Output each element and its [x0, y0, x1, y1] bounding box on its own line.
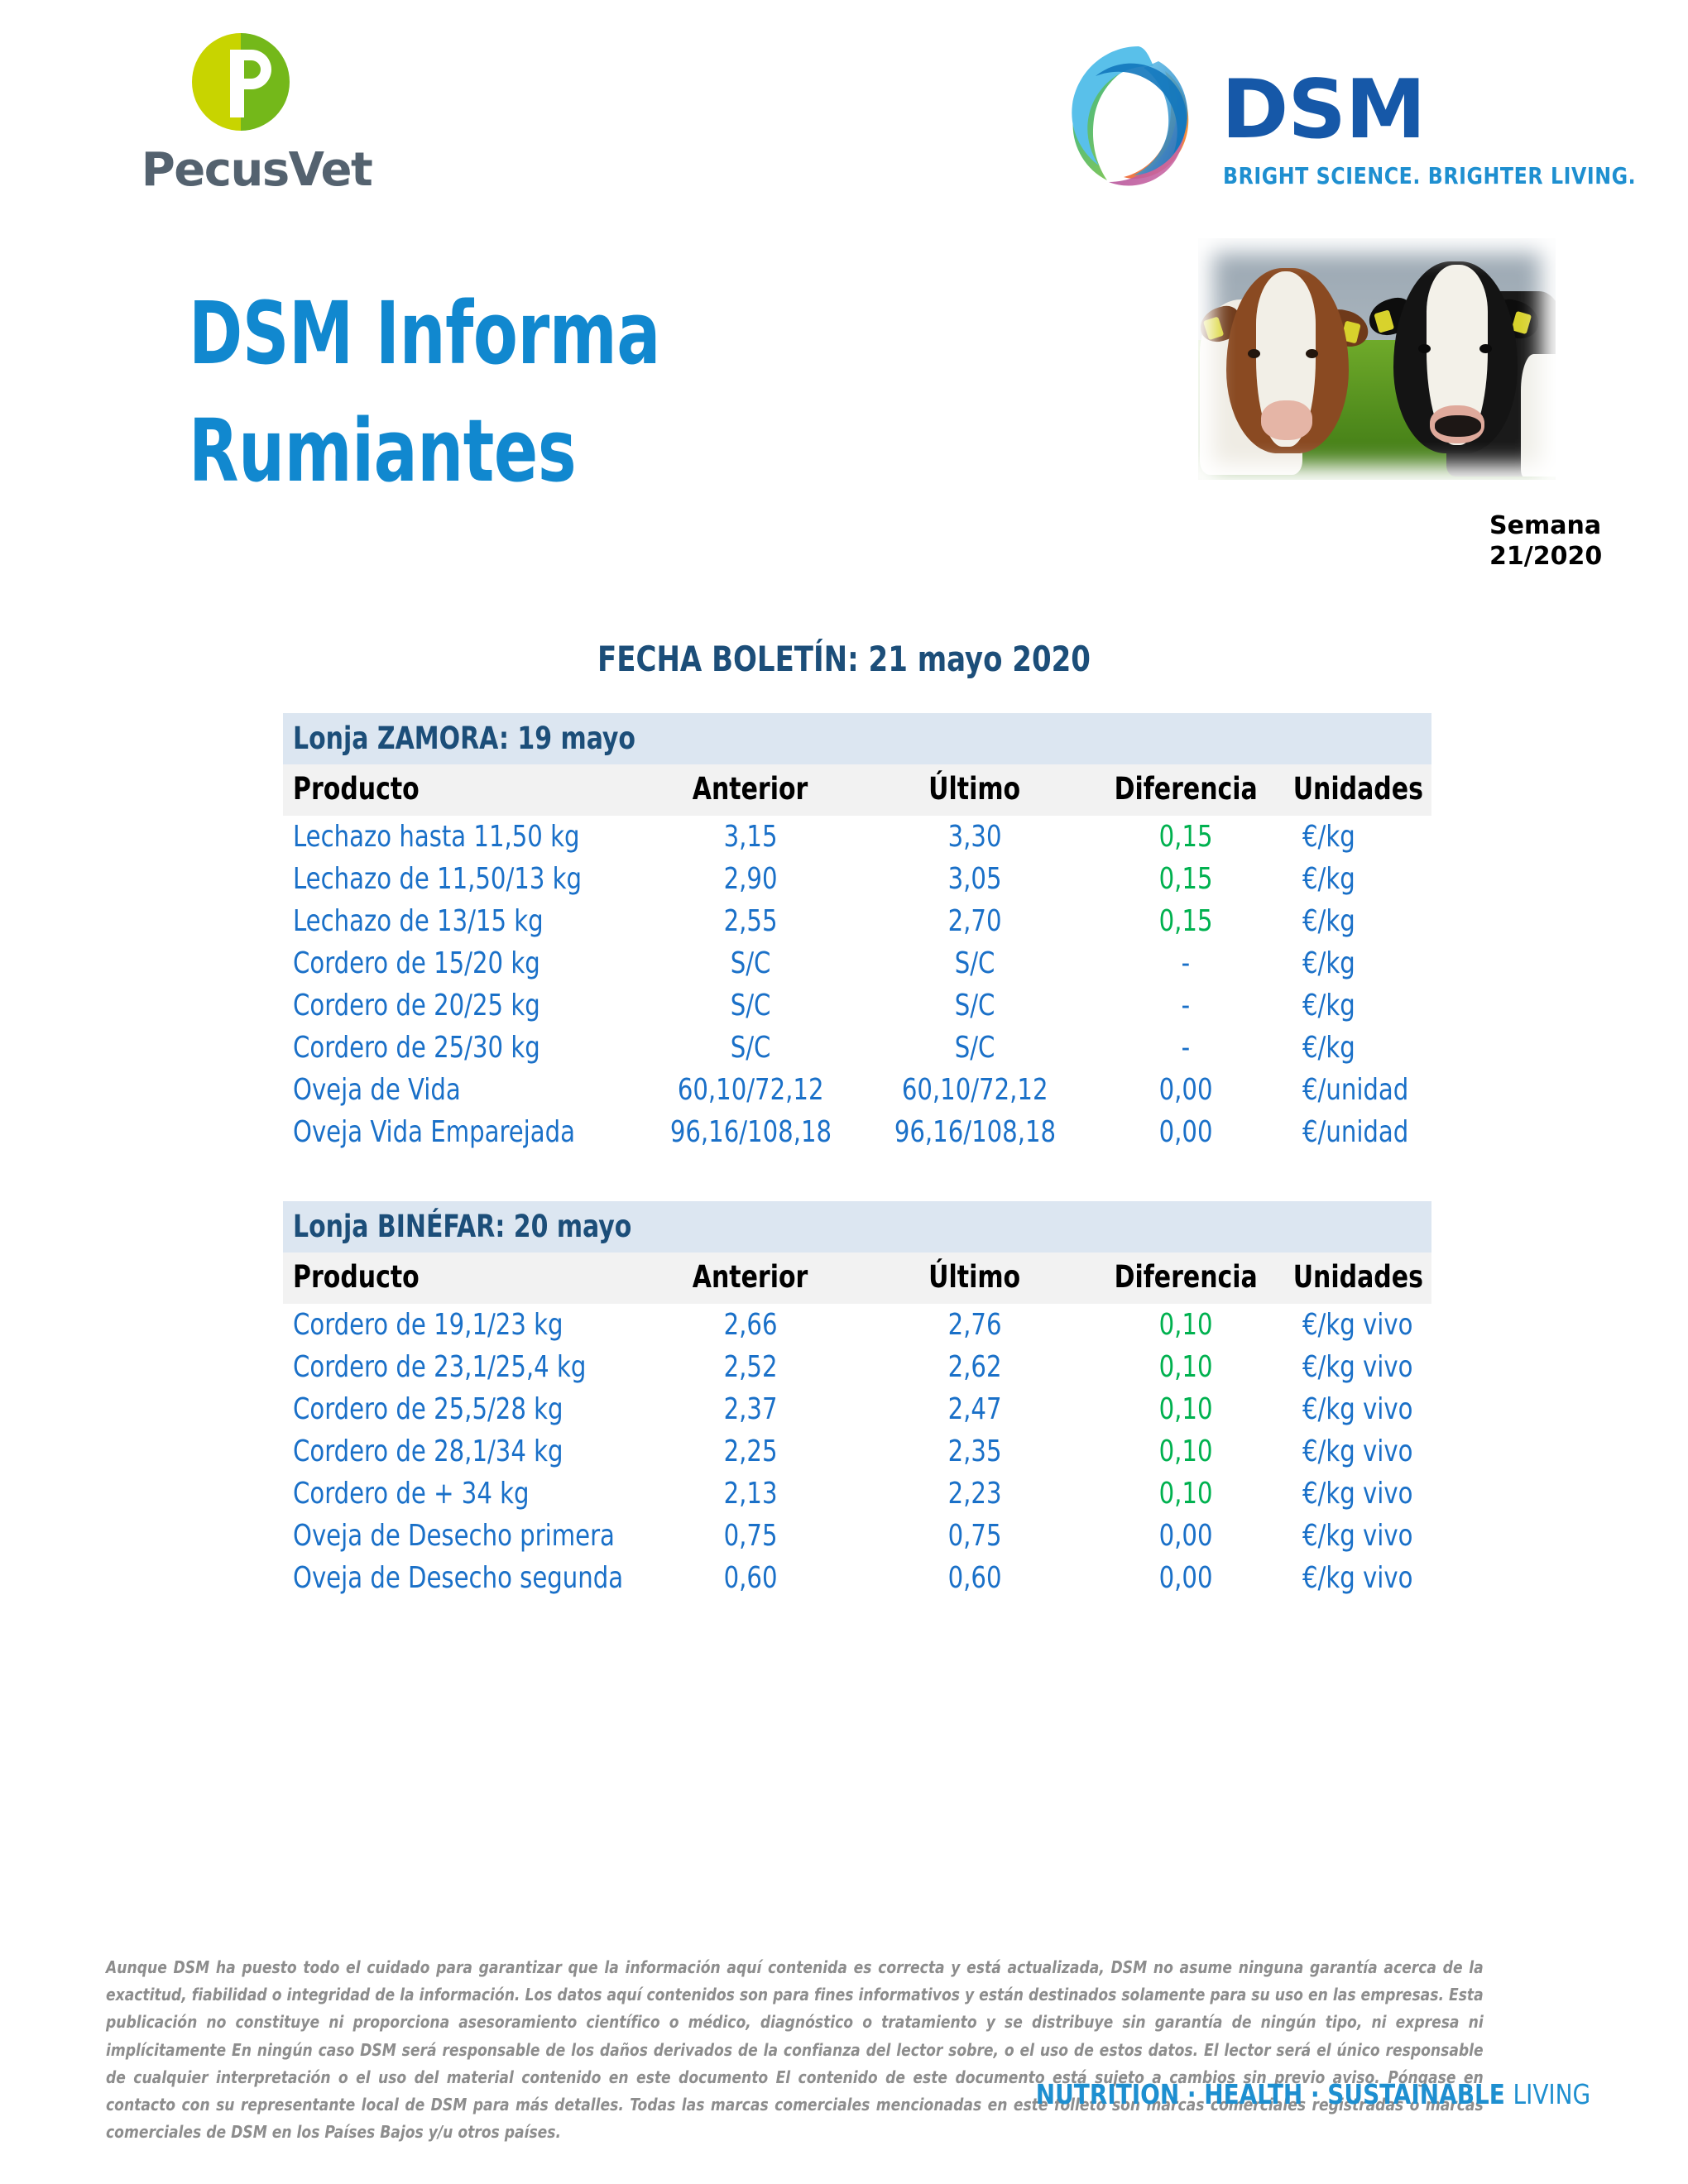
black-cow-eye-left [1418, 344, 1431, 353]
cell-diferencia: 0,15 [1087, 816, 1284, 858]
pecusvet-logo: PecusVet [124, 31, 389, 226]
column-header-ultimo: Último [862, 1252, 1087, 1304]
lonja-binefar-table: Lonja BINÉFAR: 20 mayo Producto Anterior… [283, 1201, 1431, 1599]
column-header-producto: Producto [283, 764, 639, 816]
cell-ultimo: 3,30 [862, 816, 1087, 858]
cell-diferencia: 0,15 [1087, 858, 1284, 900]
cell-ultimo: S/C [862, 942, 1087, 984]
brown-cow-muzzle [1261, 400, 1312, 440]
pecusvet-wordmark: PecusVet [124, 147, 389, 194]
black-cow-eye-right [1479, 344, 1492, 353]
legal-disclaimer: Aunque DSM ha puesto todo el cuidado par… [106, 1954, 1484, 2146]
document-header: PecusVet [0, 0, 1688, 596]
cell-unidades: €/kg [1284, 1027, 1431, 1069]
cell-anterior: 0,75 [639, 1515, 862, 1557]
section-title: Lonja BINÉFAR: 20 mayo [293, 1209, 631, 1244]
cell-anterior: 2,37 [639, 1388, 862, 1430]
section-header-zamora: Lonja ZAMORA: 19 mayo [283, 713, 1431, 764]
week-badge: Semana 21/2020 [1489, 511, 1602, 572]
column-header-producto: Producto [283, 1252, 639, 1304]
brown-cow-eye-left [1248, 349, 1260, 358]
dsm-swirl-icon [1057, 40, 1211, 194]
cell-diferencia: 0,10 [1087, 1346, 1284, 1388]
column-header-row: Producto Anterior Último Diferencia Unid… [283, 1252, 1431, 1304]
cell-ultimo: 0,60 [862, 1557, 1087, 1599]
cell-anterior: 2,90 [639, 858, 862, 900]
cell-anterior: S/C [639, 1027, 862, 1069]
page-subtitle: Rumiantes [189, 405, 576, 496]
cell-ultimo: S/C [862, 984, 1087, 1027]
cell-diferencia: 0,00 [1087, 1111, 1284, 1153]
tagline-light-part: LIVING [1513, 2078, 1590, 2110]
cell-producto: Cordero de 20/25 kg [283, 984, 639, 1027]
cell-ultimo: 2,70 [862, 900, 1087, 942]
table-row: Cordero de 20/25 kg S/C S/C - €/kg [283, 984, 1431, 1027]
cell-unidades: €/kg vivo [1284, 1557, 1431, 1599]
pecusvet-p-mark-icon [190, 31, 291, 132]
cell-ultimo: 60,10/72,12 [862, 1069, 1087, 1111]
cell-anterior: S/C [639, 984, 862, 1027]
table-row: Cordero de 25,5/28 kg 2,37 2,47 0,10 €/k… [283, 1388, 1431, 1430]
cell-unidades: €/kg vivo [1284, 1346, 1431, 1388]
cell-unidades: €/kg [1284, 858, 1431, 900]
cell-producto: Cordero de 23,1/25,4 kg [283, 1346, 639, 1388]
cell-ultimo: 2,47 [862, 1388, 1087, 1430]
cell-diferencia: 0,10 [1087, 1473, 1284, 1515]
table-row: Oveja Vida Emparejada 96,16/108,18 96,16… [283, 1111, 1431, 1153]
cell-producto: Lechazo de 11,50/13 kg [283, 858, 639, 900]
cell-unidades: €/kg vivo [1284, 1304, 1431, 1346]
table-row: Cordero de 28,1/34 kg 2,25 2,35 0,10 €/k… [283, 1430, 1431, 1473]
cell-unidades: €/kg vivo [1284, 1515, 1431, 1557]
cell-ultimo: 2,62 [862, 1346, 1087, 1388]
cows-photo [1198, 238, 1556, 480]
ear-tag-icon [1203, 316, 1224, 340]
black-cow-white-patch [1521, 354, 1556, 477]
cell-unidades: €/kg vivo [1284, 1388, 1431, 1430]
cell-producto: Cordero de + 34 kg [283, 1473, 639, 1515]
column-header-anterior: Anterior [639, 764, 862, 816]
cell-anterior: 2,13 [639, 1473, 862, 1515]
cell-unidades: €/kg [1284, 942, 1431, 984]
column-header-unidades: Unidades [1284, 764, 1431, 816]
cell-producto: Cordero de 19,1/23 kg [283, 1304, 639, 1346]
column-header-diferencia: Diferencia [1087, 764, 1284, 816]
cell-unidades: €/kg [1284, 900, 1431, 942]
dsm-footer-tagline: NUTRITION · HEALTH · SUSTAINABLE LIVING [1036, 2078, 1590, 2110]
cell-diferencia: 0,10 [1087, 1430, 1284, 1473]
cell-producto: Cordero de 25/30 kg [283, 1027, 639, 1069]
cell-anterior: 2,55 [639, 900, 862, 942]
cell-unidades: €/unidad [1284, 1111, 1431, 1153]
cell-anterior: 96,16/108,18 [639, 1111, 862, 1153]
cell-unidades: €/kg [1284, 816, 1431, 858]
cell-diferencia: 0,10 [1087, 1304, 1284, 1346]
cell-producto: Lechazo hasta 11,50 kg [283, 816, 639, 858]
cell-anterior: 2,25 [639, 1430, 862, 1473]
table-row: Oveja de Vida 60,10/72,12 60,10/72,12 0,… [283, 1069, 1431, 1111]
cell-anterior: 60,10/72,12 [639, 1069, 862, 1111]
cell-unidades: €/kg vivo [1284, 1473, 1431, 1515]
cell-producto: Oveja de Vida [283, 1069, 639, 1111]
table-row: Cordero de 19,1/23 kg 2,66 2,76 0,10 €/k… [283, 1304, 1431, 1346]
table-row: Cordero de 23,1/25,4 kg 2,52 2,62 0,10 €… [283, 1346, 1431, 1388]
week-value: 21/2020 [1489, 542, 1602, 572]
cell-ultimo: 0,75 [862, 1515, 1087, 1557]
cell-producto: Oveja de Desecho segunda [283, 1557, 639, 1599]
cell-producto: Cordero de 28,1/34 kg [283, 1430, 639, 1473]
cell-ultimo: 2,23 [862, 1473, 1087, 1515]
cell-ultimo: 2,76 [862, 1304, 1087, 1346]
column-header-ultimo: Último [862, 764, 1087, 816]
cell-diferencia: - [1087, 942, 1284, 984]
cell-diferencia: 0,15 [1087, 900, 1284, 942]
tagline-bold-part: NUTRITION · HEALTH · SUSTAINABLE [1036, 2078, 1513, 2110]
table-row: Lechazo de 13/15 kg 2,55 2,70 0,15 €/kg [283, 900, 1431, 942]
table-row: Cordero de 15/20 kg S/C S/C - €/kg [283, 942, 1431, 984]
cell-producto: Lechazo de 13/15 kg [283, 900, 639, 942]
cell-producto: Oveja Vida Emparejada [283, 1111, 639, 1153]
cell-diferencia: - [1087, 1027, 1284, 1069]
section-title: Lonja ZAMORA: 19 mayo [293, 721, 635, 756]
cell-anterior: S/C [639, 942, 862, 984]
bulletin-date: FECHA BOLETÍN: 21 mayo 2020 [84, 639, 1604, 679]
cell-producto: Cordero de 25,5/28 kg [283, 1388, 639, 1430]
table-row: Cordero de 25/30 kg S/C S/C - €/kg [283, 1027, 1431, 1069]
cell-unidades: €/kg [1284, 984, 1431, 1027]
cell-diferencia: 0,00 [1087, 1557, 1284, 1599]
cell-ultimo: S/C [862, 1027, 1087, 1069]
dsm-wordmark: DSM [1221, 74, 1425, 146]
table-row: Oveja de Desecho segunda 0,60 0,60 0,00 … [283, 1557, 1431, 1599]
page-title: DSM Informa [189, 288, 660, 379]
lonja-zamora-table: Lonja ZAMORA: 19 mayo Producto Anterior … [283, 713, 1431, 1153]
table-row: Lechazo hasta 11,50 kg 3,15 3,30 0,15 €/… [283, 816, 1431, 858]
cell-anterior: 2,52 [639, 1346, 862, 1388]
cell-anterior: 2,66 [639, 1304, 862, 1346]
cell-producto: Oveja de Desecho primera [283, 1515, 639, 1557]
cell-ultimo: 3,05 [862, 858, 1087, 900]
column-header-row: Producto Anterior Último Diferencia Unid… [283, 764, 1431, 816]
column-header-unidades: Unidades [1284, 1252, 1431, 1304]
dsm-tagline: BRIGHT SCIENCE. BRIGHTER LIVING. [1223, 162, 1636, 189]
table-row: Oveja de Desecho primera 0,75 0,75 0,00 … [283, 1515, 1431, 1557]
cell-diferencia: - [1087, 984, 1284, 1027]
table-row: Cordero de + 34 kg 2,13 2,23 0,10 €/kg v… [283, 1473, 1431, 1515]
cell-unidades: €/kg vivo [1284, 1430, 1431, 1473]
cell-diferencia: 0,00 [1087, 1069, 1284, 1111]
cell-producto: Cordero de 15/20 kg [283, 942, 639, 984]
cell-ultimo: 96,16/108,18 [862, 1111, 1087, 1153]
cell-ultimo: 2,35 [862, 1430, 1087, 1473]
cell-unidades: €/unidad [1284, 1069, 1431, 1111]
cell-diferencia: 0,00 [1087, 1515, 1284, 1557]
black-cow-nostrils [1435, 415, 1481, 437]
brown-cow-eye-right [1306, 349, 1318, 358]
cell-anterior: 3,15 [639, 816, 862, 858]
ear-tag-icon [1374, 309, 1394, 333]
dsm-logo: DSM BRIGHT SCIENCE. BRIGHTER LIVING. [1057, 40, 1571, 189]
column-header-diferencia: Diferencia [1087, 1252, 1284, 1304]
week-label: Semana [1489, 511, 1602, 542]
section-header-binefar: Lonja BINÉFAR: 20 mayo [283, 1201, 1431, 1252]
column-header-anterior: Anterior [639, 1252, 862, 1304]
cell-diferencia: 0,10 [1087, 1388, 1284, 1430]
table-row: Lechazo de 11,50/13 kg 2,90 3,05 0,15 €/… [283, 858, 1431, 900]
cell-anterior: 0,60 [639, 1557, 862, 1599]
